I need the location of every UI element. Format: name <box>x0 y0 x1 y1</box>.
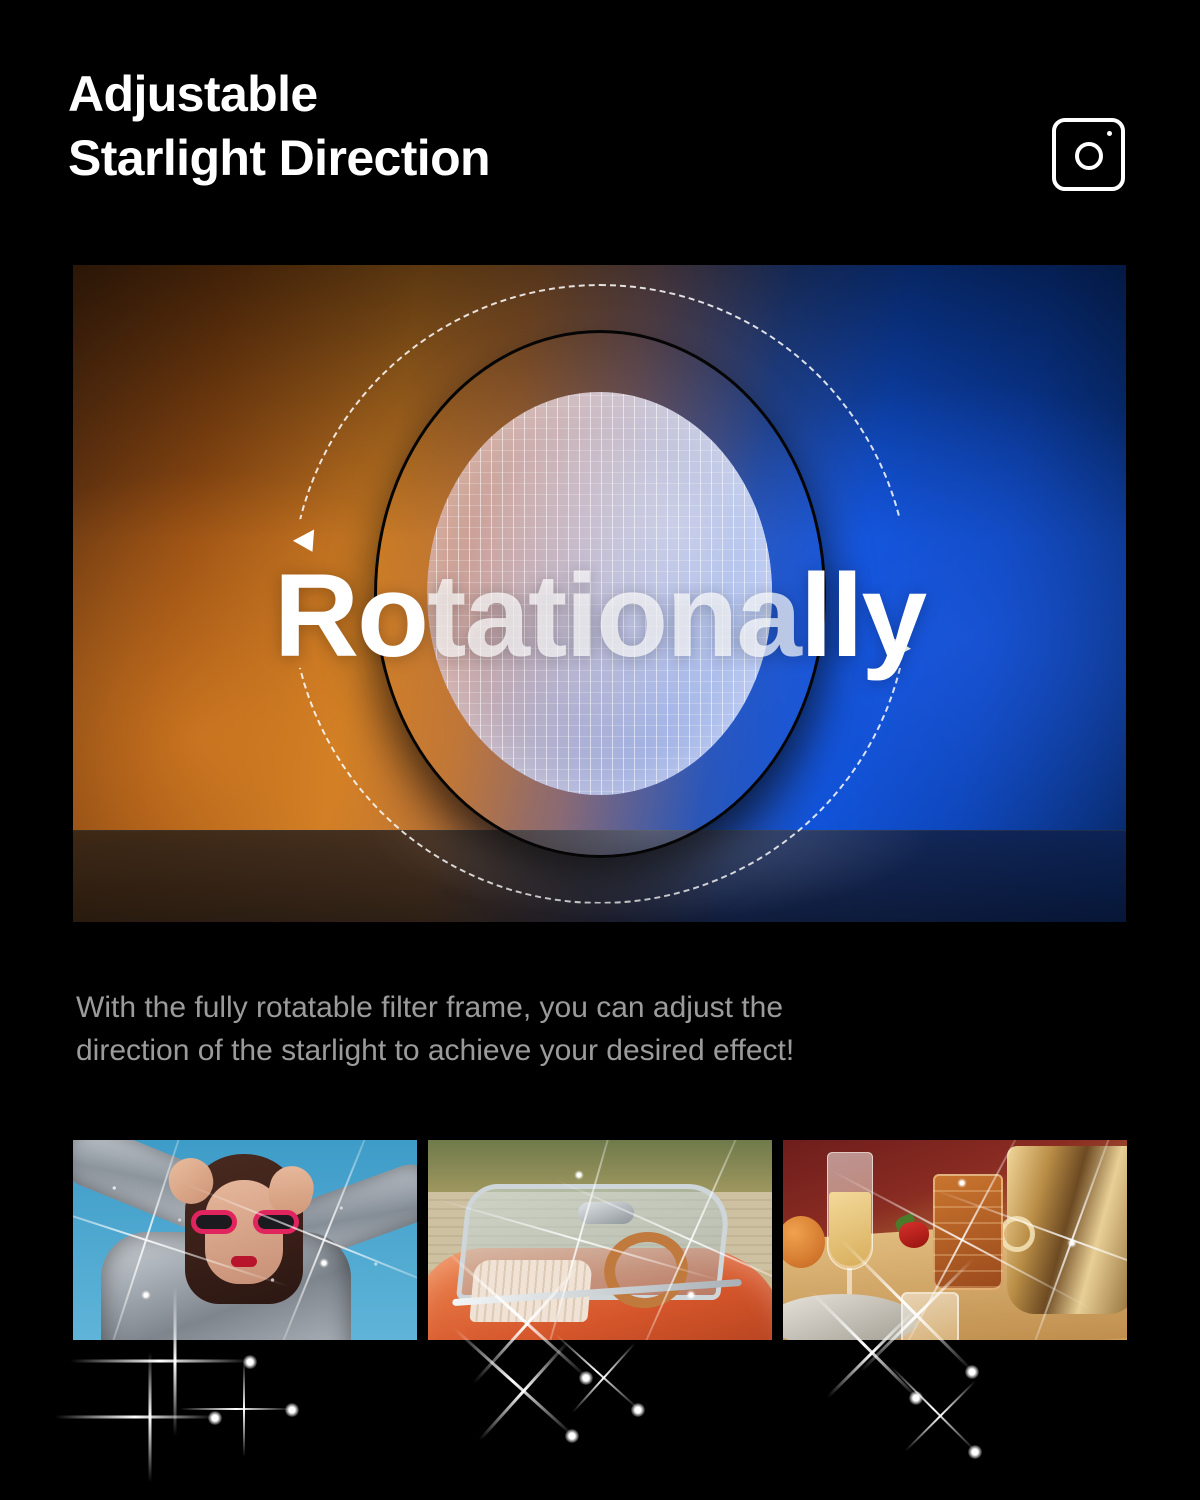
camera-lens-icon <box>1075 142 1103 170</box>
feature-description: With the fully rotatable filter frame, y… <box>76 986 1076 1072</box>
gallery-item-classic-convertible[interactable] <box>428 1140 772 1340</box>
starlight-sparkle-row <box>0 1340 1200 1500</box>
gallery-item-fashion-portrait[interactable] <box>73 1140 417 1340</box>
page-title: Adjustable Starlight Direction <box>68 62 490 190</box>
sparkle-core <box>285 1403 299 1417</box>
portrait-sequin-glints <box>73 1140 417 1340</box>
sparkle-core <box>208 1411 222 1425</box>
car-rear-view-mirror <box>578 1202 634 1224</box>
drinks-tumbler-ribbing <box>933 1174 1003 1290</box>
gallery-item-golden-drinks[interactable] <box>783 1140 1127 1340</box>
filter-glass-element <box>427 392 773 796</box>
camera-flash-dot-icon <box>1107 131 1112 136</box>
drinks-bucket-handle <box>999 1216 1035 1252</box>
drinks-champagne-liquid <box>829 1192 871 1266</box>
sample-photo-gallery <box>73 1140 1127 1340</box>
camera-icon <box>1052 118 1125 191</box>
hero-image: Rotationally <box>73 265 1126 922</box>
page-header: Adjustable Starlight Direction <box>0 0 1200 230</box>
rotation-arrow-left-icon <box>292 529 322 557</box>
sparkle-core <box>243 1355 257 1369</box>
filter-glass-sheen <box>427 392 773 796</box>
product-feature-page: Adjustable Starlight Direction <box>0 0 1200 1500</box>
rotation-arrow-right-icon <box>881 631 911 659</box>
drinks-strawberry <box>899 1222 929 1248</box>
